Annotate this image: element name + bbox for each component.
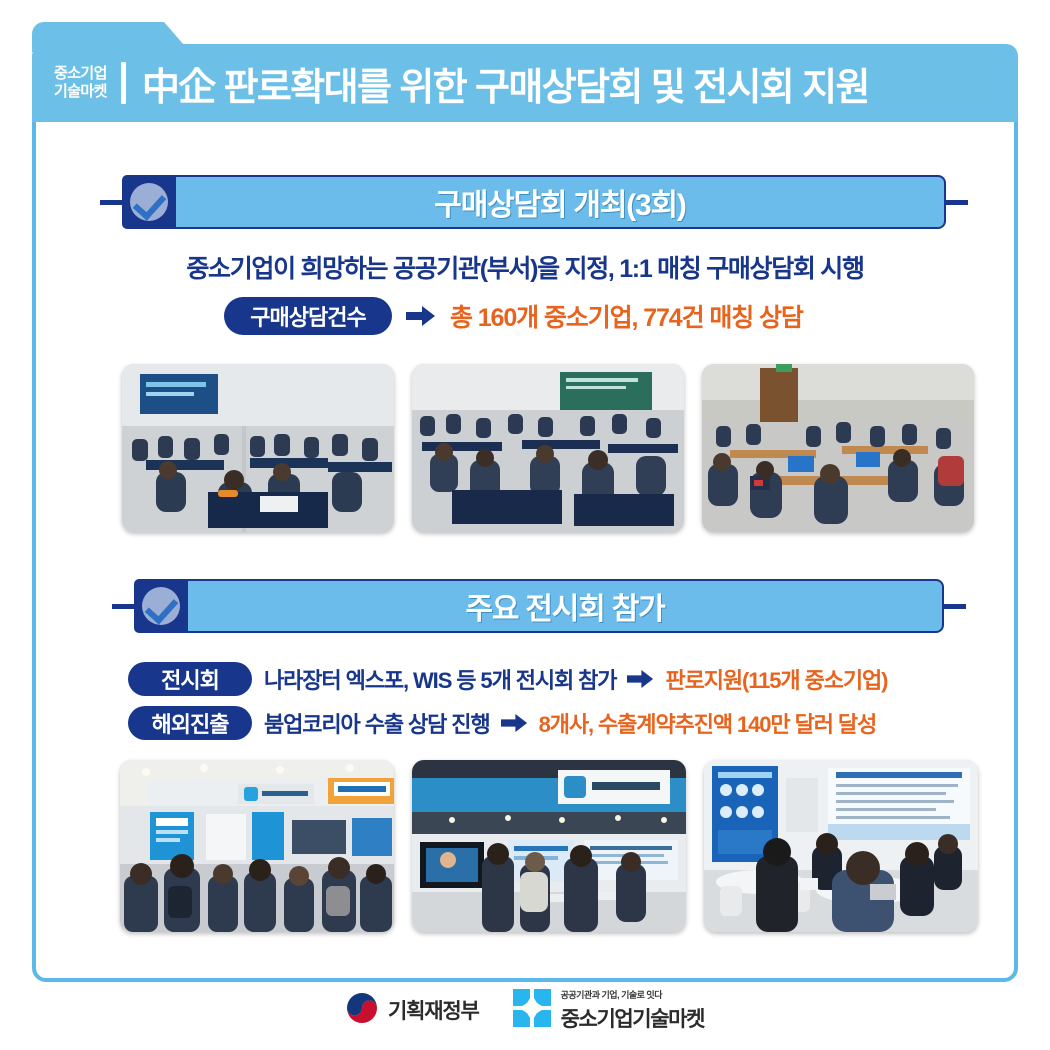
section-2-photo-row (120, 760, 978, 932)
check-circle-icon (134, 579, 188, 633)
section-2-row-1-desc: 붐업코리아 수출 상담 진행 (264, 707, 490, 739)
section-2-row-0-result: 판로지원(115개 중소기업) (665, 663, 887, 695)
bar-tick-right-icon (946, 200, 968, 205)
section-1-stat-row: 구매상담건수 총 160개 중소기업, 774건 매칭 상담 (224, 297, 803, 335)
section-1-photo-row (122, 364, 974, 532)
photo-expo-booth-inside (412, 760, 686, 932)
page-header: 중소기업 기술마켓 中企 판로확대를 위한 구매상담회 및 전시회 지원 (32, 44, 1018, 122)
brand-divider (121, 62, 126, 104)
section-1-stat-value: 총 160개 중소기업, 774건 매칭 상담 (450, 298, 803, 334)
photo-conference-hall (122, 364, 394, 532)
market-tagline: 공공기관과 기업, 기술로 잇다 (561, 988, 704, 1001)
photo-expo-consult (704, 760, 978, 932)
section-2-row-exhibition: 전시회 나라장터 엑스포, WIS 등 5개 전시회 참가 판로지원(115개 … (128, 662, 887, 696)
bar-tick-left-icon (100, 200, 122, 205)
section-1-lead-text: 중소기업이 희망하는 공공기관(부서)을 지정, 1:1 매칭 구매상담회 시행 (0, 249, 1050, 285)
page-title: 中企 판로확대를 위한 구매상담회 및 전시회 지원 (142, 56, 869, 111)
section-1-title-bar: 구매상담회 개최(3회) (176, 175, 946, 229)
photo-meeting-room-a (412, 364, 684, 532)
photo-expo-booth-crowd (120, 760, 394, 932)
bar-tick-left-icon (112, 604, 134, 609)
bar-tick-right-icon (944, 604, 966, 609)
section-2-title: 주요 전시회 참가 (465, 584, 664, 628)
pill-purchase-count: 구매상담건수 (224, 297, 392, 335)
section-2-row-1-result: 8개사, 수출계약추진액 140만 달러 달성 (539, 707, 877, 739)
gov-logo-group: 기획재정부 (346, 992, 479, 1029)
section-2-title-bar: 주요 전시회 참가 (188, 579, 944, 633)
gov-name: 기획재정부 (388, 995, 479, 1025)
section-2-header: 주요 전시회 참가 (112, 578, 966, 634)
section-2-row-0-desc: 나라장터 엑스포, WIS 등 5개 전시회 참가 (264, 663, 616, 695)
market-logo-group: 공공기관과 기업, 기술로 잇다 중소기업기술마켓 (513, 988, 704, 1033)
market-name: 중소기업기술마켓 (561, 1003, 704, 1033)
arrow-right-icon (501, 713, 528, 733)
check-circle-icon (122, 175, 176, 229)
taegeuk-logo (346, 992, 378, 1029)
pill-exhibition: 전시회 (128, 662, 252, 696)
photo-meeting-room-b (702, 364, 974, 532)
pinwheel-logo (513, 989, 551, 1032)
brand-logo-text: 중소기업 기술마켓 (54, 65, 107, 100)
footer-logos: 기획재정부 공공기관과 기업, 기술로 잇다 중소기업기술마켓 (0, 982, 1050, 1038)
pill-overseas: 해외진출 (128, 706, 252, 740)
section-1-title: 구매상담회 개최(3회) (434, 180, 685, 224)
arrow-right-icon (627, 669, 654, 689)
section-1-header: 구매상담회 개최(3회) (100, 174, 968, 230)
section-2-row-overseas: 해외진출 붐업코리아 수출 상담 진행 8개사, 수출계약추진액 140만 달러… (128, 706, 876, 740)
market-text-block: 공공기관과 기업, 기술로 잇다 중소기업기술마켓 (561, 988, 704, 1033)
arrow-right-icon (406, 305, 436, 327)
